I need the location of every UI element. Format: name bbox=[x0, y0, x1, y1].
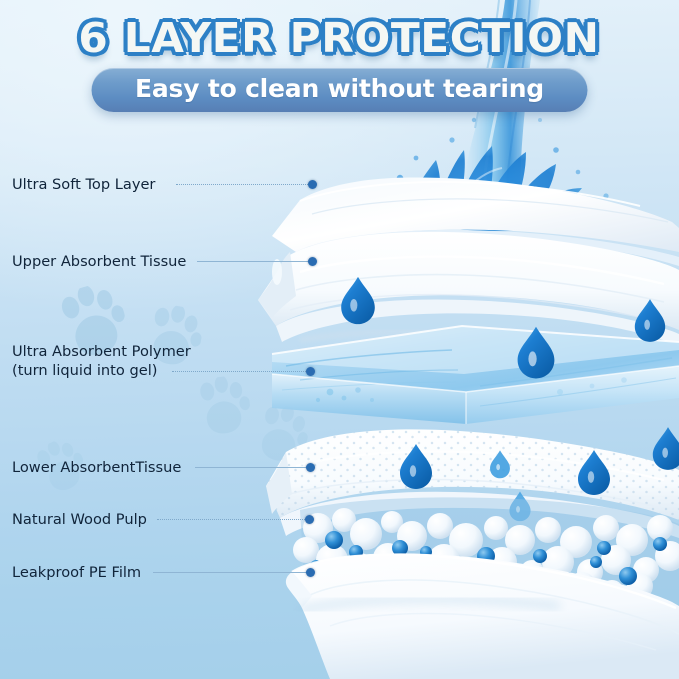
leader-dot-layer-2 bbox=[308, 257, 317, 266]
label-ultra-soft-top-layer: Ultra Soft Top Layer bbox=[12, 175, 155, 194]
leader-line-layer-3 bbox=[172, 371, 312, 373]
label-upper-absorbent-tissue: Upper Absorbent Tissue bbox=[12, 252, 186, 271]
label-text: Ultra Soft Top Layer bbox=[12, 176, 155, 193]
leader-line-layer-6 bbox=[153, 572, 310, 574]
page-title: 6 LAYER PROTECTION bbox=[79, 12, 600, 64]
leader-line-layer-1 bbox=[176, 184, 312, 186]
label-natural-wood-pulp: Natural Wood Pulp bbox=[12, 510, 147, 529]
infographic-canvas: 6 LAYER PROTECTION Easy to clean without… bbox=[0, 0, 679, 679]
leader-dot-layer-3 bbox=[306, 367, 315, 376]
label-text-secondary: (turn liquid into gel) bbox=[12, 361, 191, 380]
subtitle-pill: Easy to clean without tearing bbox=[91, 68, 588, 112]
label-text: Lower AbsorbentTissue bbox=[12, 459, 181, 476]
title-block: 6 LAYER PROTECTION bbox=[0, 12, 679, 64]
leader-dot-layer-4 bbox=[306, 463, 315, 472]
label-text: Natural Wood Pulp bbox=[12, 511, 147, 528]
label-ultra-absorbent-polymer: Ultra Absorbent Polymer (turn liquid int… bbox=[12, 342, 191, 380]
layer-ultra-absorbent-polymer bbox=[272, 326, 679, 424]
label-text: Upper Absorbent Tissue bbox=[12, 253, 186, 270]
leader-dot-layer-1 bbox=[308, 180, 317, 189]
leader-line-layer-5 bbox=[157, 519, 309, 521]
leader-dot-layer-5 bbox=[305, 515, 314, 524]
leader-line-layer-4 bbox=[195, 467, 310, 469]
leader-dot-layer-6 bbox=[306, 568, 315, 577]
water-droplet bbox=[653, 427, 679, 470]
label-leakproof-pe-film: Leakproof PE Film bbox=[12, 563, 141, 582]
label-lower-absorbent-tissue: Lower AbsorbentTissue bbox=[12, 458, 181, 477]
label-text: Ultra Absorbent Polymer bbox=[12, 343, 191, 360]
label-text: Leakproof PE Film bbox=[12, 564, 141, 581]
leader-line-layer-2 bbox=[197, 261, 312, 263]
page-subtitle: Easy to clean without tearing bbox=[135, 74, 544, 104]
